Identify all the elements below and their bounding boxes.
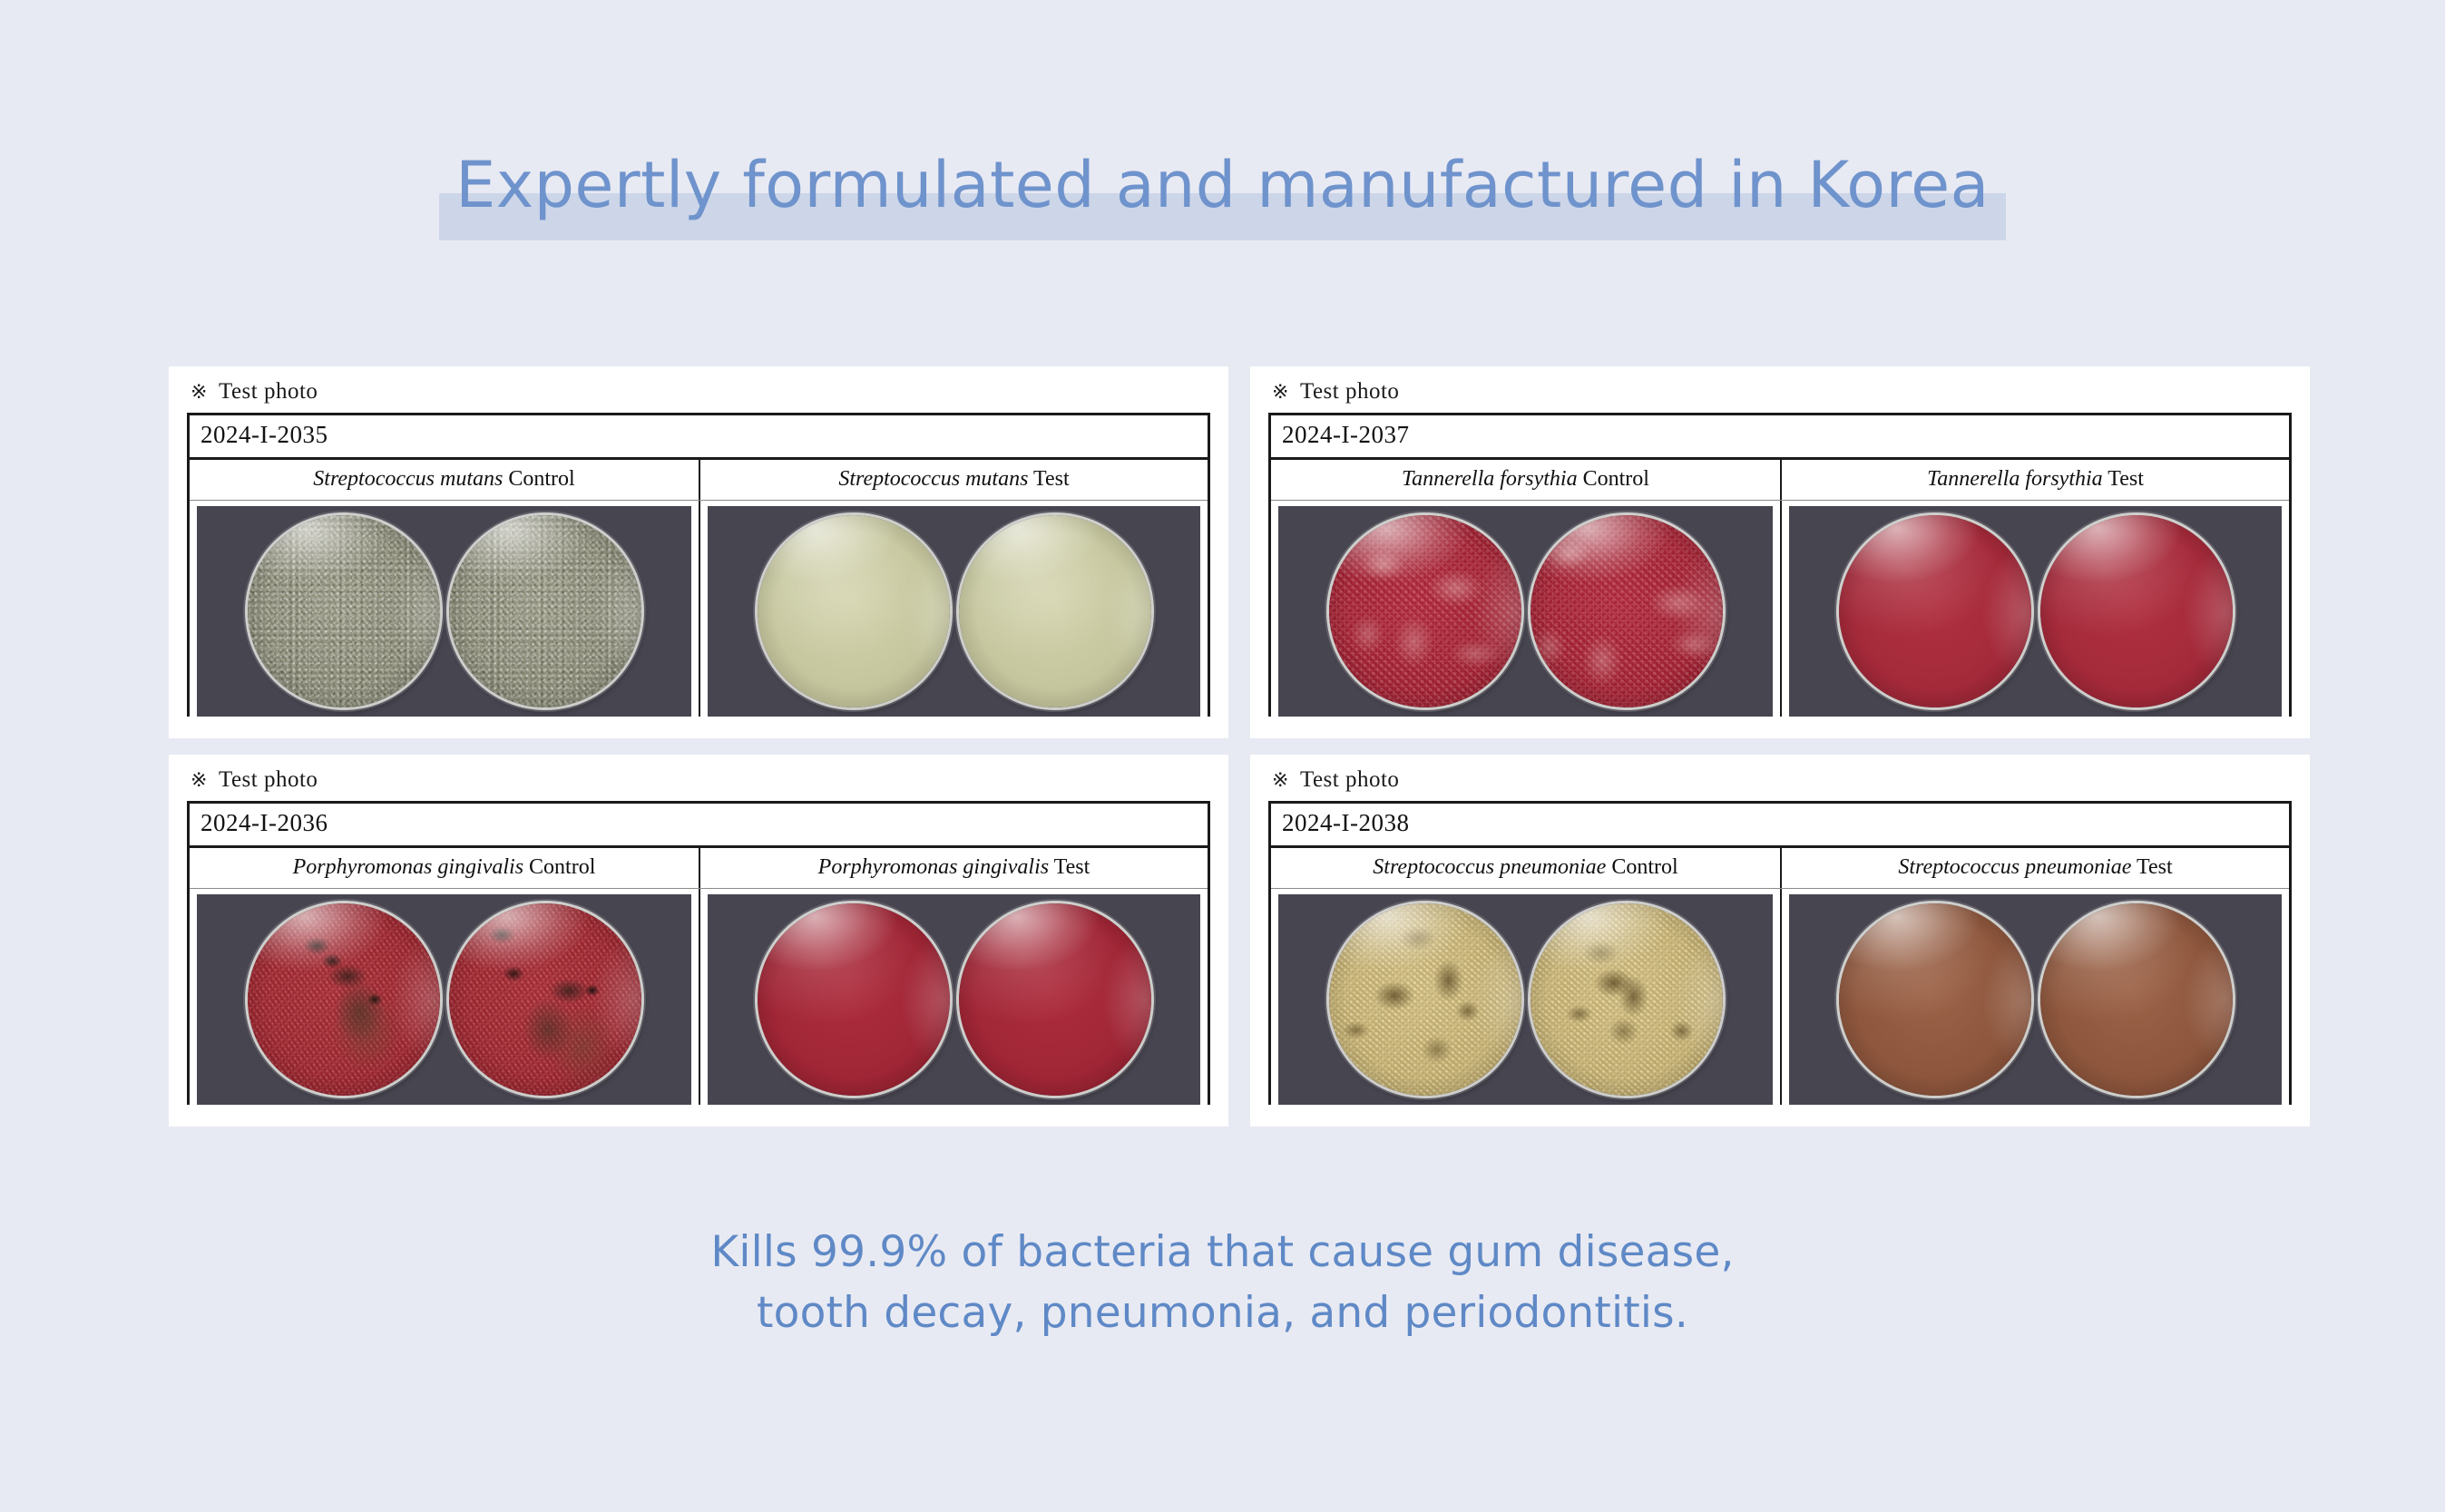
petri-dish <box>449 903 641 1096</box>
sample-id: 2024-I-2038 <box>1271 804 2289 848</box>
agar-surface <box>248 903 440 1096</box>
column-header-row: Streptococcus mutans Control Streptococc… <box>190 460 1208 501</box>
photo-row <box>1271 889 2289 1105</box>
reference-mark-icon: ※ <box>1272 768 1289 791</box>
test-photo-note-label: Test photo <box>219 379 318 404</box>
test-photo-note-label: Test photo <box>1300 379 1400 404</box>
petri-dish-photo-test <box>708 894 1200 1105</box>
column-header-test: Tannerella forsythia Test <box>1780 460 2289 500</box>
petri-dish <box>1839 903 2031 1096</box>
caption-line-1: Kills 99.9% of bacteria that cause gum d… <box>0 1223 2445 1283</box>
sample-id: 2024-I-2035 <box>190 415 1208 460</box>
photo-cell-control <box>190 501 699 717</box>
agar-surface <box>1531 515 1723 707</box>
test-photo-note-label: Test photo <box>1300 767 1400 792</box>
headline-inner: Expertly formulated and manufactured in … <box>439 145 2006 227</box>
test-photo-panel: ※Test photo 2024-I-2037 Tannerella forsy… <box>1250 366 2310 738</box>
petri-dish <box>2040 903 2233 1096</box>
test-photo-note: ※Test photo <box>1250 366 2310 413</box>
photo-row <box>190 889 1208 1105</box>
species-name: Streptococcus pneumoniae <box>1898 855 2131 879</box>
test-photo-panel-grid: ※Test photo 2024-I-2035 Streptococcus mu… <box>169 366 2274 1128</box>
petri-dish-photo-test <box>1789 506 2282 717</box>
column-header-test: Streptococcus pneumoniae Test <box>1780 848 2289 888</box>
test-photo-panel: ※Test photo 2024-I-2035 Streptococcus mu… <box>169 366 1228 738</box>
agar-surface <box>959 903 1151 1096</box>
condition-label: Test <box>2108 467 2144 491</box>
photo-cell-control <box>1271 501 1780 717</box>
column-header-control: Tannerella forsythia Control <box>1271 460 1780 500</box>
petri-dish <box>758 903 950 1096</box>
petri-dish <box>2040 515 2233 707</box>
column-header-row: Streptococcus pneumoniae Control Strepto… <box>1271 848 2289 889</box>
agar-surface <box>449 903 641 1096</box>
agar-surface <box>2040 903 2233 1096</box>
photo-cell-test <box>699 889 1208 1105</box>
test-photo-panel: ※Test photo 2024-I-2036 Porphyromonas gi… <box>169 755 1228 1127</box>
petri-dish <box>959 903 1151 1096</box>
column-header-control: Streptococcus mutans Control <box>190 460 699 500</box>
petri-dish <box>1329 515 1521 707</box>
sample-id: 2024-I-2037 <box>1271 415 2289 460</box>
petri-dish-photo-test <box>708 506 1200 717</box>
petri-dish-photo-control <box>1278 894 1773 1105</box>
test-photo-table: 2024-I-2038 Streptococcus pneumoniae Con… <box>1268 801 2292 1105</box>
condition-label: Test <box>2137 855 2173 879</box>
petri-dish <box>449 515 641 707</box>
agar-surface <box>959 515 1151 707</box>
petri-dish <box>1531 903 1723 1096</box>
test-photo-note: ※Test photo <box>169 755 1228 801</box>
agar-surface <box>1531 903 1723 1096</box>
condition-label: Test <box>1054 855 1090 879</box>
marketing-caption: Kills 99.9% of bacteria that cause gum d… <box>0 1223 2445 1343</box>
petri-dish <box>758 515 950 707</box>
petri-dish <box>1839 515 2031 707</box>
condition-label: Control <box>1611 855 1677 879</box>
agar-surface <box>758 903 950 1096</box>
agar-surface <box>1329 903 1521 1096</box>
petri-dish-photo-test <box>1789 894 2282 1105</box>
species-name: Streptococcus mutans <box>313 467 503 491</box>
petri-dish <box>248 515 440 707</box>
condition-label: Control <box>508 467 574 491</box>
petri-dish <box>959 515 1151 707</box>
column-header-row: Tannerella forsythia Control Tannerella … <box>1271 460 2289 501</box>
column-header-test: Streptococcus mutans Test <box>699 460 1208 500</box>
test-photo-table: 2024-I-2035 Streptococcus mutans Control… <box>187 413 1210 717</box>
test-photo-table: 2024-I-2036 Porphyromonas gingivalis Con… <box>187 801 1210 1105</box>
reference-mark-icon: ※ <box>191 380 208 403</box>
agar-surface <box>1329 515 1521 707</box>
petri-dish <box>248 903 440 1096</box>
agar-surface <box>1839 903 2031 1096</box>
condition-label: Test <box>1033 467 1070 491</box>
test-photo-note-label: Test photo <box>219 767 318 792</box>
photo-row <box>1271 501 2289 717</box>
test-photo-note: ※Test photo <box>169 366 1228 413</box>
test-photo-table: 2024-I-2037 Tannerella forsythia Control… <box>1268 413 2292 717</box>
species-name: Streptococcus mutans <box>838 467 1028 491</box>
species-name: Tannerella forsythia <box>1402 467 1578 491</box>
column-header-control: Streptococcus pneumoniae Control <box>1271 848 1780 888</box>
column-header-row: Porphyromonas gingivalis Control Porphyr… <box>190 848 1208 889</box>
reference-mark-icon: ※ <box>1272 380 1289 403</box>
agar-surface <box>449 515 641 707</box>
test-photo-note: ※Test photo <box>1250 755 2310 801</box>
agar-surface <box>248 515 440 707</box>
petri-dish-photo-control <box>197 506 691 717</box>
headline-banner: Expertly formulated and manufactured in … <box>0 145 2445 227</box>
photo-cell-test <box>1780 889 2289 1105</box>
agar-surface <box>1839 515 2031 707</box>
petri-dish-photo-control <box>1278 506 1773 717</box>
caption-line-2: tooth decay, pneumonia, and periodontiti… <box>0 1283 2445 1344</box>
species-name: Porphyromonas gingivalis <box>293 855 523 879</box>
agar-surface <box>758 515 950 707</box>
photo-cell-test <box>699 501 1208 717</box>
agar-surface <box>2040 515 2233 707</box>
condition-label: Control <box>529 855 595 879</box>
photo-cell-control <box>1271 889 1780 1105</box>
petri-dish <box>1329 903 1521 1096</box>
reference-mark-icon: ※ <box>191 768 208 791</box>
photo-cell-control <box>190 889 699 1105</box>
sample-id: 2024-I-2036 <box>190 804 1208 848</box>
test-photo-panel: ※Test photo 2024-I-2038 Streptococcus pn… <box>1250 755 2310 1127</box>
species-name: Streptococcus pneumoniae <box>1373 855 1606 879</box>
column-header-test: Porphyromonas gingivalis Test <box>699 848 1208 888</box>
column-header-control: Porphyromonas gingivalis Control <box>190 848 699 888</box>
page-title: Expertly formulated and manufactured in … <box>455 145 1990 227</box>
photo-row <box>190 501 1208 717</box>
petri-dish-photo-control <box>197 894 691 1105</box>
condition-label: Control <box>1583 467 1649 491</box>
photo-cell-test <box>1780 501 2289 717</box>
species-name: Tannerella forsythia <box>1927 467 2103 491</box>
petri-dish <box>1531 515 1723 707</box>
species-name: Porphyromonas gingivalis <box>818 855 1049 879</box>
